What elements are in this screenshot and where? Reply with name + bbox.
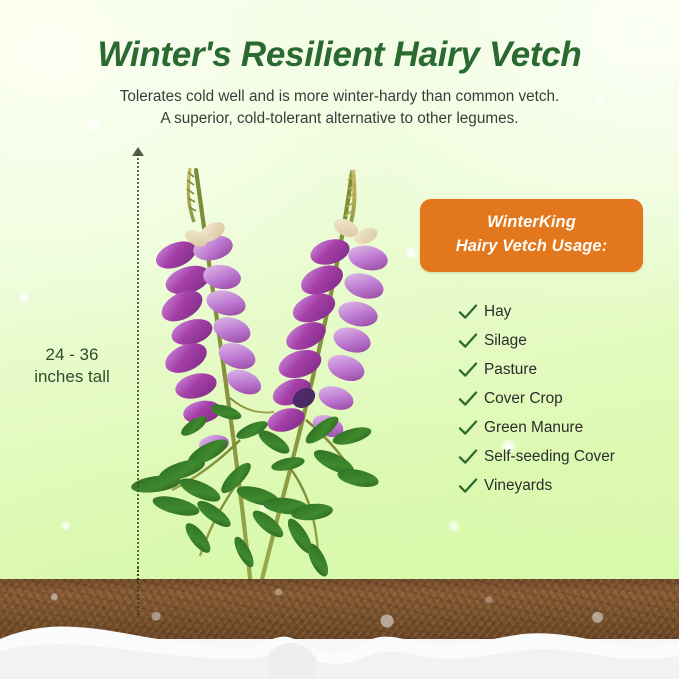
check-icon — [458, 478, 484, 495]
check-icon — [458, 449, 484, 466]
height-label-line-1: 24 - 36 — [18, 344, 126, 366]
usage-badge-line-2: Hairy Vetch Usage: — [430, 235, 633, 259]
bokeh-speck — [340, 364, 360, 384]
subtitle-line-2: A superior, cold-tolerant alternative to… — [45, 108, 635, 130]
check-icon — [458, 362, 484, 379]
usage-badge-line-1: WinterKing — [430, 211, 633, 235]
usage-list: Hay Silage Pasture Cover Crop — [420, 298, 643, 501]
usage-item-label: Vineyards — [484, 477, 552, 495]
page-subtitle: Tolerates cold well and is more winter-h… — [45, 86, 635, 129]
bokeh-speck — [448, 520, 460, 532]
list-item: Hay — [458, 298, 643, 327]
list-item: Vineyards — [458, 472, 643, 501]
bokeh-speck — [404, 246, 418, 260]
header: Winter's Resilient Hairy Vetch Tolerates… — [0, 0, 679, 129]
check-icon — [458, 420, 484, 437]
snow-drift-front-icon — [0, 617, 679, 679]
poster-canvas: Winter's Resilient Hairy Vetch Tolerates… — [0, 0, 679, 679]
page-title: Winter's Resilient Hairy Vetch — [0, 0, 679, 74]
usage-item-label: Pasture — [484, 361, 537, 379]
flower-spike-tips — [187, 168, 356, 226]
dotted-measure-line-lower — [137, 567, 139, 615]
bokeh-speck — [18, 292, 30, 304]
plant-stems — [172, 170, 360, 596]
list-item: Self-seeding Cover — [458, 443, 643, 472]
usage-panel: WinterKing Hairy Vetch Usage: Hay Silage — [420, 199, 643, 501]
list-item: Green Manure — [458, 414, 643, 443]
list-item: Silage — [458, 327, 643, 356]
bokeh-speck — [60, 520, 71, 531]
usage-item-label: Green Manure — [484, 419, 583, 437]
height-label-line-2: inches tall — [18, 366, 126, 388]
usage-item-label: Silage — [484, 332, 527, 350]
flower-cluster-right — [265, 215, 390, 441]
list-item: Cover Crop — [458, 385, 643, 414]
ground-scene — [0, 539, 679, 679]
usage-badge: WinterKing Hairy Vetch Usage: — [420, 199, 643, 272]
soil-top-edge — [0, 571, 679, 587]
check-icon — [458, 391, 484, 408]
list-item: Pasture — [458, 356, 643, 385]
bokeh-speck — [258, 498, 273, 513]
height-label: 24 - 36 inches tall — [18, 344, 126, 389]
usage-item-label: Self-seeding Cover — [484, 448, 615, 466]
usage-item-label: Cover Crop — [484, 390, 563, 408]
check-icon — [458, 333, 484, 350]
check-icon — [458, 304, 484, 321]
usage-item-label: Hay — [484, 303, 511, 321]
subtitle-line-1: Tolerates cold well and is more winter-h… — [45, 86, 635, 108]
flower-cluster-left — [152, 218, 265, 455]
